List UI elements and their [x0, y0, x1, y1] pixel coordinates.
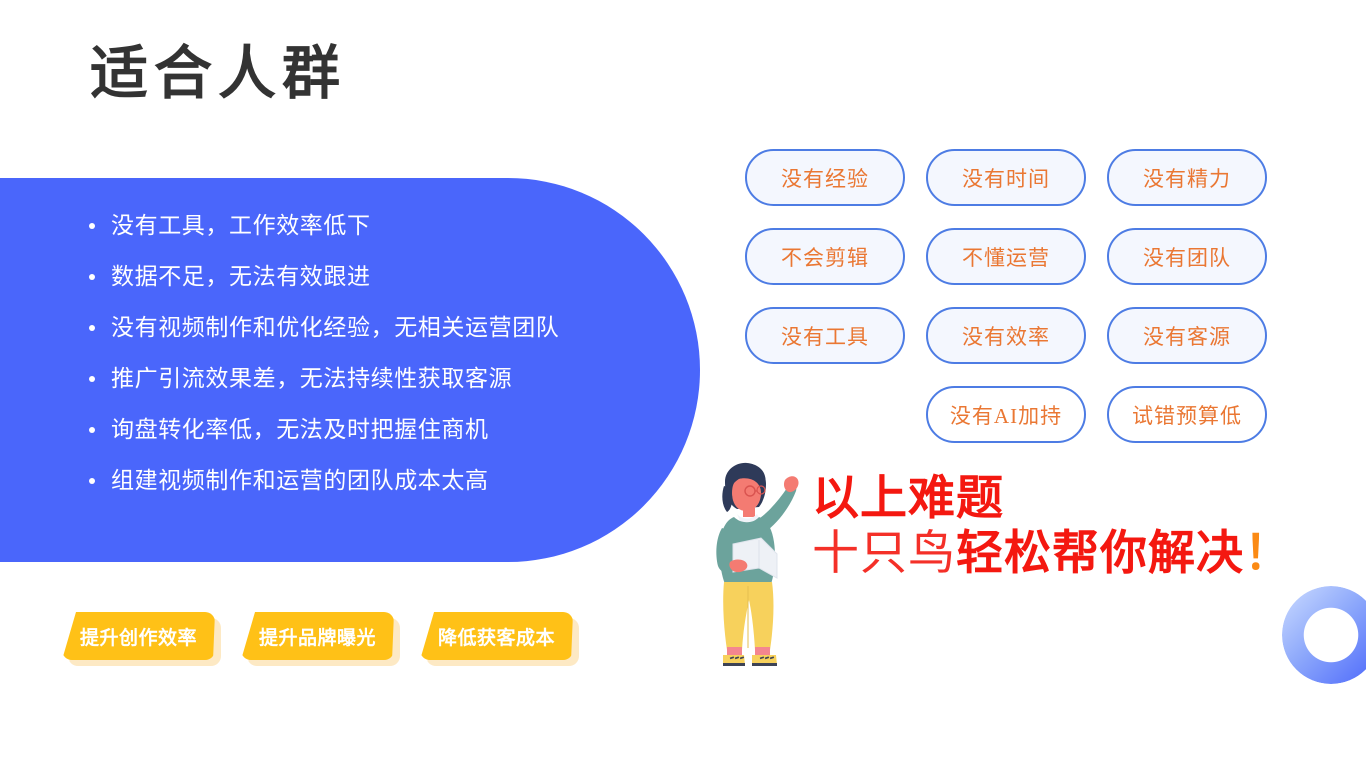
painpoint-label: 没有团队: [1143, 242, 1231, 272]
problem-item: 询盘转化率低，无法及时把握住商机: [85, 418, 665, 441]
gradient-ring-icon: [1282, 586, 1366, 684]
page-title: 适合人群: [90, 42, 346, 106]
problem-item: 没有工具，工作效率低下: [85, 214, 665, 237]
benefit-tag-label: 提升品牌曝光: [259, 623, 376, 650]
problem-list: 没有工具，工作效率低下 数据不足，无法有效跟进 没有视频制作和优化经验，无相关运…: [85, 214, 665, 520]
painpoint-label: 不懂运营: [962, 242, 1050, 272]
painpoint-label: 没有经验: [781, 163, 869, 193]
benefit-tag-label: 降低获客成本: [438, 623, 555, 650]
painpoint-grid: 没有经验 没有时间 没有精力 不会剪辑 不懂运营 没有团队 没有工具: [745, 149, 1285, 465]
painpoint-label: 不会剪辑: [781, 242, 869, 272]
painpoint-pill[interactable]: 没有客源: [1107, 307, 1267, 364]
painpoint-pill[interactable]: 没有工具: [745, 307, 905, 364]
problem-panel: 没有工具，工作效率低下 数据不足，无法有效跟进 没有视频制作和优化经验，无相关运…: [0, 178, 700, 562]
painpoint-pill[interactable]: 不会剪辑: [745, 228, 905, 285]
callout-line-1: 以上难题: [812, 470, 1292, 525]
painpoint-pill[interactable]: 没有精力: [1107, 149, 1267, 206]
painpoint-row: 没有经验 没有时间 没有精力: [745, 149, 1285, 206]
problem-item: 数据不足，无法有效跟进: [85, 265, 665, 288]
painpoint-pill[interactable]: 没有AI加持: [926, 386, 1086, 443]
benefit-tag-label: 提升创作效率: [80, 623, 197, 650]
painpoint-label: 没有精力: [1143, 163, 1231, 193]
painpoint-label: 没有客源: [1143, 321, 1231, 351]
callout-line-2: 十只鸟轻松帮你解决！: [812, 525, 1292, 580]
painpoint-label: 没有效率: [962, 321, 1050, 351]
painpoint-row: 没有工具 没有效率 没有客源: [745, 307, 1285, 364]
painpoint-pill[interactable]: 没有时间: [926, 149, 1086, 206]
benefit-tag-group: 提升创作效率 提升品牌曝光 降低获客成本: [62, 612, 573, 660]
tag-body: 提升创作效率: [62, 612, 215, 660]
tag-body: 降低获客成本: [420, 612, 573, 660]
tag-body: 提升品牌曝光: [241, 612, 394, 660]
painpoint-label: 没有时间: [962, 163, 1050, 193]
problem-item: 组建视频制作和运营的团队成本太高: [85, 469, 665, 492]
benefit-tag[interactable]: 提升创作效率: [62, 612, 215, 660]
painpoint-label: 没有AI加持: [950, 400, 1062, 430]
benefit-tag[interactable]: 提升品牌曝光: [241, 612, 394, 660]
painpoint-row: 没有AI加持 试错预算低: [926, 386, 1285, 443]
painpoint-pill[interactable]: 没有效率: [926, 307, 1086, 364]
painpoint-pill[interactable]: 没有团队: [1107, 228, 1267, 285]
callout-emphasis: 轻松帮你解决: [956, 526, 1244, 579]
benefit-tag[interactable]: 降低获客成本: [420, 612, 573, 660]
callout-exclamation: ！: [1244, 526, 1292, 579]
painpoint-label: 试错预算低: [1132, 400, 1242, 430]
painpoint-pill[interactable]: 不懂运营: [926, 228, 1086, 285]
callout-block: 以上难题 十只鸟轻松帮你解决！: [812, 470, 1292, 581]
presenter-illustration: [697, 462, 817, 670]
callout-brand: 十只鸟: [812, 526, 956, 579]
painpoint-row: 不会剪辑 不懂运营 没有团队: [745, 228, 1285, 285]
painpoint-label: 没有工具: [781, 321, 869, 351]
painpoint-pill[interactable]: 没有经验: [745, 149, 905, 206]
problem-item: 没有视频制作和优化经验，无相关运营团队: [85, 316, 665, 339]
painpoint-pill[interactable]: 试错预算低: [1107, 386, 1267, 443]
slide-canvas: 适合人群 没有工具，工作效率低下 数据不足，无法有效跟进 没有视频制作和优化经验…: [0, 0, 1366, 763]
problem-item: 推广引流效果差，无法持续性获取客源: [85, 367, 665, 390]
